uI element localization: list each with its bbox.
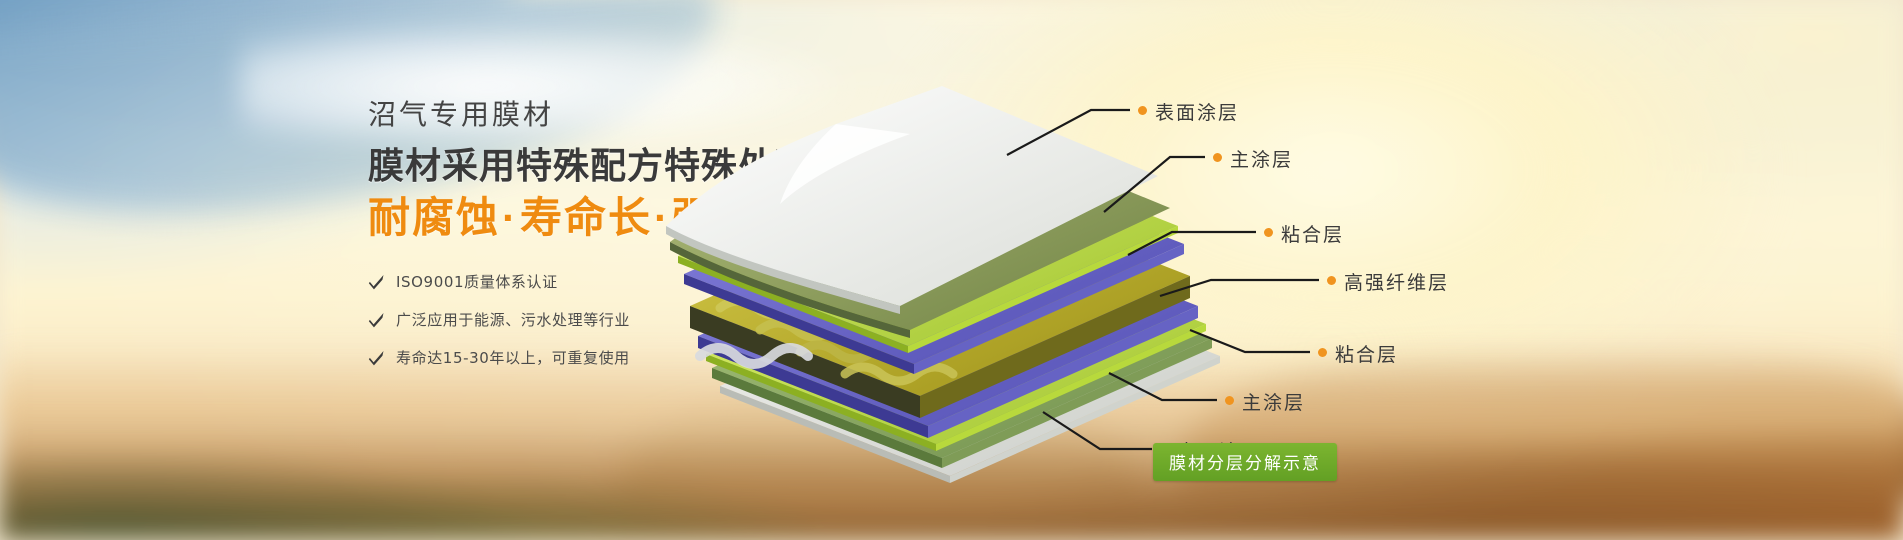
highlight-separator-1: · bbox=[500, 194, 520, 241]
hero-banner: 沼气专用膜材 膜材采用特殊配方特殊处理 耐腐蚀·寿命长·强度高 ISO9001质… bbox=[0, 0, 1903, 540]
check-icon bbox=[368, 349, 385, 366]
feature-bullet-2-label: 广泛应用于能源、污水处理等行业 bbox=[396, 309, 630, 330]
check-icon bbox=[368, 273, 385, 290]
highlight-part-2: 寿命长 bbox=[520, 194, 652, 241]
check-icon bbox=[368, 311, 385, 328]
diagram-caption-badge: 膜材分层分解示意 bbox=[1153, 443, 1337, 481]
feature-bullet-3-label: 寿命达15-30年以上，可重复使用 bbox=[396, 347, 630, 368]
feature-bullet-1-label: ISO9001质量体系认证 bbox=[396, 271, 558, 292]
highlight-part-1: 耐腐蚀 bbox=[368, 194, 500, 241]
membrane-layer-diagram bbox=[660, 56, 1280, 486]
